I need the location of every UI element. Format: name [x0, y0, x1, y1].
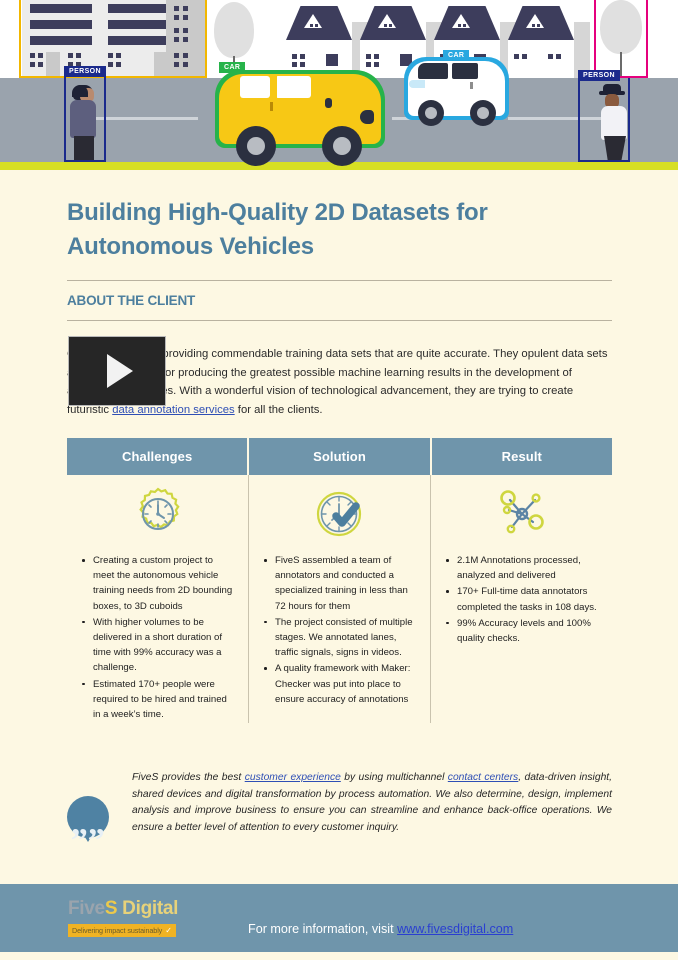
video-play-overlay[interactable]	[68, 336, 166, 406]
house-window	[537, 24, 540, 27]
logo-tagline-text: Delivering impact sustainably	[72, 926, 162, 935]
car-window	[240, 76, 270, 98]
house-window	[463, 29, 466, 32]
hero-banner-illustration: PERSON CAR	[0, 0, 678, 170]
car-window	[275, 76, 311, 98]
bbox-tree-magenta	[594, 0, 648, 78]
quote-bubble-icon: „„	[67, 796, 113, 842]
about-text-after: for all the clients.	[235, 404, 323, 416]
house-window	[389, 29, 392, 32]
bbox-person-right	[578, 78, 630, 162]
house-window	[514, 54, 519, 59]
house-window	[315, 24, 318, 27]
house-window	[300, 54, 305, 59]
logo-text-digital: Digital	[117, 898, 178, 919]
house-window	[532, 24, 535, 27]
house-window	[366, 54, 371, 59]
table-header-result: Result	[430, 438, 612, 475]
list-item: FiveS assembled a team of annotators and…	[275, 553, 418, 614]
table-body-row: Creating a custom project to meet the au…	[67, 475, 612, 723]
car-door-seam	[470, 82, 473, 89]
contact-centers-link[interactable]: contact centers	[448, 772, 518, 783]
car-door-seam	[270, 102, 273, 111]
house-window	[374, 62, 379, 67]
solution-bullet-list: FiveS assembled a team of annotators and…	[249, 553, 430, 707]
challenges-solution-result-table: Challenges Solution Result	[67, 438, 612, 723]
table-header-challenges: Challenges	[67, 438, 247, 475]
car-hub	[247, 137, 265, 155]
quote-glyph: „„	[67, 796, 109, 838]
car-pillar	[274, 76, 277, 98]
table-cell-result: 2.1M Annotations processed, analyzed and…	[430, 475, 612, 723]
list-item: Creating a custom project to meet the au…	[93, 553, 236, 614]
list-item: A quality framework with Maker: Checker …	[275, 661, 418, 707]
house-window	[310, 29, 313, 32]
play-icon	[107, 354, 133, 388]
divider-above-section	[67, 280, 612, 281]
list-item: 2.1M Annotations processed, analyzed and…	[457, 553, 600, 583]
house-window	[458, 24, 461, 27]
table-cell-challenges: Creating a custom project to meet the au…	[67, 475, 248, 723]
list-item: 170+ Full-time data annotators completed…	[457, 584, 600, 614]
page-footer: FiveS Digital Delivering impact sustaina…	[0, 884, 678, 960]
house-window	[532, 29, 535, 32]
table-header-solution: Solution	[247, 438, 429, 475]
house-window	[548, 54, 553, 59]
house-window	[537, 29, 540, 32]
house-window	[315, 29, 318, 32]
result-bullet-list: 2.1M Annotations processed, analyzed and…	[431, 553, 612, 646]
network-nodes-icon	[431, 475, 612, 553]
table-header-row: Challenges Solution Result	[67, 438, 612, 475]
house-window	[300, 62, 305, 67]
house-window	[556, 54, 561, 59]
list-item: The project consisted of multiple stages…	[275, 615, 418, 661]
fives-digital-logo[interactable]: FiveS Digital Delivering impact sustaina…	[68, 898, 200, 938]
car-hub	[477, 107, 489, 119]
house-window	[310, 24, 313, 27]
table-cell-solution: FiveS assembled a team of annotators and…	[248, 475, 430, 723]
car-mirror	[409, 80, 425, 88]
house-window	[522, 54, 527, 59]
logo-text-five: Five	[68, 898, 105, 919]
house-window	[458, 29, 461, 32]
house-window	[292, 62, 297, 67]
bbox-label-person-right: PERSON	[578, 70, 620, 81]
footer-info-text: For more information, visit www.fivesdig…	[248, 922, 513, 936]
car-headlight	[360, 110, 374, 124]
car-door-handle	[325, 98, 332, 108]
house-window	[374, 54, 379, 59]
customer-experience-link[interactable]: customer experience	[245, 772, 341, 783]
bbox-label-car-yellow: CAR	[219, 62, 245, 73]
footer-bottom-strip	[0, 952, 678, 960]
list-item: With higher volumes to be delivered in a…	[93, 615, 236, 676]
quote-block: „„ FiveS provides the best customer expe…	[67, 770, 612, 842]
quote-part-2: by using multichannel	[341, 772, 448, 783]
page-title: Building High-Quality 2D Datasets for Au…	[67, 196, 627, 264]
logo-wordmark: FiveS Digital	[68, 898, 200, 920]
list-item: Estimated 170+ people were required to b…	[93, 677, 236, 723]
bbox-building-yellow	[19, 0, 207, 78]
bbox-label-car-white: CAR	[443, 50, 469, 61]
challenges-bullet-list: Creating a custom project to meet the au…	[67, 553, 248, 722]
house-door	[326, 54, 338, 66]
about-heading: ABOUT THE CLIENT	[67, 293, 195, 308]
case-study-page: PERSON CAR	[0, 0, 678, 960]
car-hub	[425, 107, 437, 119]
list-item: 99% Accuracy levels and 100% quality che…	[457, 616, 600, 646]
logo-text-s: S	[105, 898, 117, 919]
house-window	[384, 29, 387, 32]
bbox-person-left	[64, 74, 106, 162]
bbox-label-person-left: PERSON	[64, 66, 106, 77]
footer-info-label: For more information, visit	[248, 922, 397, 936]
house-window	[463, 24, 466, 27]
quote-paragraph: FiveS provides the best customer experie…	[113, 770, 612, 842]
house-window	[366, 62, 371, 67]
fivesdigital-website-link[interactable]: www.fivesdigital.com	[397, 922, 513, 936]
logo-tagline-badge: Delivering impact sustainably✓	[68, 924, 176, 937]
check-icon: ✓	[165, 926, 172, 935]
quote-part-1: FiveS provides the best	[132, 772, 245, 783]
car-window	[418, 63, 448, 79]
divider-below-section	[67, 320, 612, 321]
car-hub	[333, 137, 351, 155]
house-window	[292, 54, 297, 59]
house-window	[389, 24, 392, 27]
house-window	[384, 24, 387, 27]
clock-check-icon	[249, 475, 430, 553]
quote-bubble-shape: „„	[67, 796, 109, 838]
car-window	[452, 63, 478, 79]
gear-clock-icon	[67, 475, 248, 553]
house-body	[508, 40, 574, 78]
tree-canopy	[214, 2, 254, 58]
